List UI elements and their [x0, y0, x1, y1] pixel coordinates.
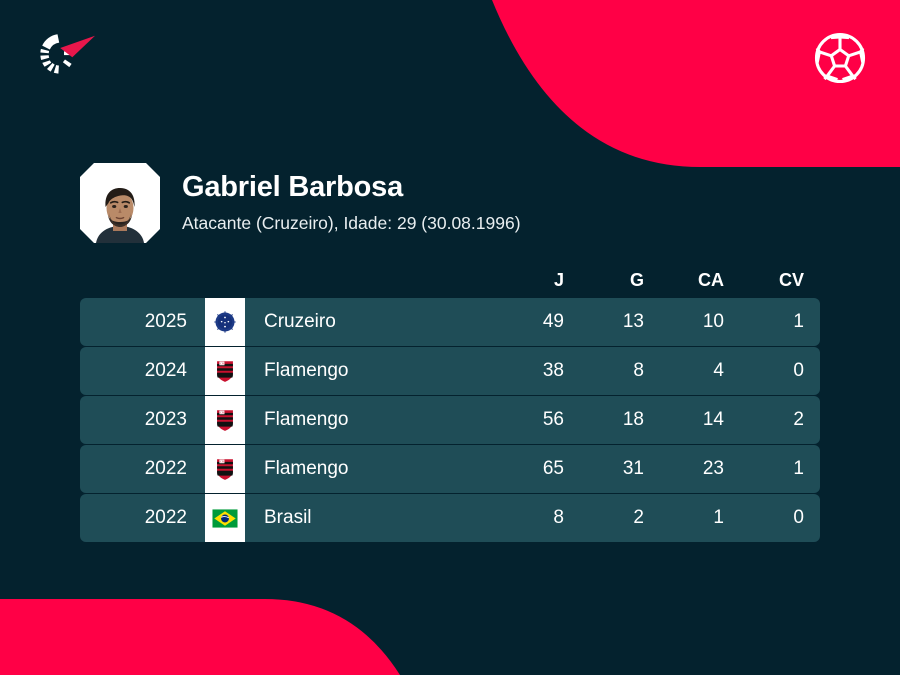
row-season-year: 2023: [80, 409, 205, 431]
svg-text:CRF: CRF: [220, 460, 226, 464]
row-season-year: 2022: [80, 507, 205, 529]
flashscore-logo[interactable]: [32, 27, 102, 85]
row-team-name: Flamengo: [245, 360, 500, 382]
player-identity: Gabriel Barbosa Atacante (Cruzeiro), Ida…: [80, 163, 521, 243]
svg-text:CRF: CRF: [220, 362, 226, 366]
career-stats-table: J G CA CV 2025 Cruzeiro49131012024: [80, 262, 820, 543]
row-stat-ca: 1: [660, 507, 740, 529]
stats-header-row: J G CA CV: [80, 262, 820, 298]
table-row[interactable]: 2024 CRF Flamengo38840: [80, 347, 820, 395]
row-stat-g: 18: [580, 409, 660, 431]
header-stat-j: J: [500, 270, 580, 291]
row-stat-g: 31: [580, 458, 660, 480]
row-stat-cv: 1: [740, 311, 820, 333]
player-text-block: Gabriel Barbosa Atacante (Cruzeiro), Ida…: [182, 172, 521, 233]
soccer-ball-icon[interactable]: [812, 30, 868, 86]
player-name: Gabriel Barbosa: [182, 172, 521, 204]
row-stat-ca: 14: [660, 409, 740, 431]
table-row[interactable]: 2023 CRF Flamengo5618142: [80, 396, 820, 444]
row-season-year: 2025: [80, 311, 205, 333]
row-stat-j: 38: [500, 360, 580, 382]
row-stat-g: 8: [580, 360, 660, 382]
cruzeiro-crest-icon: [211, 308, 239, 336]
row-stat-ca: 4: [660, 360, 740, 382]
row-stat-ca: 23: [660, 458, 740, 480]
flamengo-crest-icon: CRF: [211, 406, 239, 434]
row-stat-j: 56: [500, 409, 580, 431]
row-stat-cv: 0: [740, 360, 820, 382]
flamengo-crest-icon: CRF: [211, 357, 239, 385]
team-badge-flamengo-crest: CRF: [205, 347, 245, 395]
team-badge-flamengo-crest: CRF: [205, 396, 245, 444]
header-bar: [0, 0, 900, 170]
stats-body: 2025 Cruzeiro49131012024 CRF Flamengo388…: [80, 298, 820, 542]
row-stat-cv: 1: [740, 458, 820, 480]
row-team-name: Brasil: [245, 507, 500, 529]
row-season-year: 2024: [80, 360, 205, 382]
row-team-name: Flamengo: [245, 458, 500, 480]
row-team-name: Cruzeiro: [245, 311, 500, 333]
row-stat-cv: 0: [740, 507, 820, 529]
team-badge-brazil-flag: [205, 494, 245, 542]
player-photo-frame: [80, 163, 160, 243]
header-badge-spacer: [205, 256, 245, 304]
table-row[interactable]: 2025 Cruzeiro4913101: [80, 298, 820, 346]
player-portrait: [94, 181, 146, 243]
brazil-flag-icon: [212, 509, 238, 528]
row-stat-j: 49: [500, 311, 580, 333]
row-stat-j: 65: [500, 458, 580, 480]
header-stat-ca: CA: [660, 270, 740, 291]
row-stat-cv: 2: [740, 409, 820, 431]
header-stat-cv: CV: [740, 270, 820, 291]
row-stat-j: 8: [500, 507, 580, 529]
team-badge-cruzeiro-crest: [205, 298, 245, 346]
row-stat-g: 13: [580, 311, 660, 333]
row-team-name: Flamengo: [245, 409, 500, 431]
header-stat-g: G: [580, 270, 660, 291]
bottom-red-shape: [0, 599, 400, 675]
flamengo-crest-icon: CRF: [211, 455, 239, 483]
table-row[interactable]: 2022 Brasil8210: [80, 494, 820, 542]
table-row[interactable]: 2022 CRF Flamengo6531231: [80, 445, 820, 493]
row-season-year: 2022: [80, 458, 205, 480]
team-badge-flamengo-crest: CRF: [205, 445, 245, 493]
player-meta: Atacante (Cruzeiro), Idade: 29 (30.08.19…: [182, 214, 521, 233]
svg-text:CRF: CRF: [220, 411, 226, 415]
row-stat-g: 2: [580, 507, 660, 529]
row-stat-ca: 10: [660, 311, 740, 333]
